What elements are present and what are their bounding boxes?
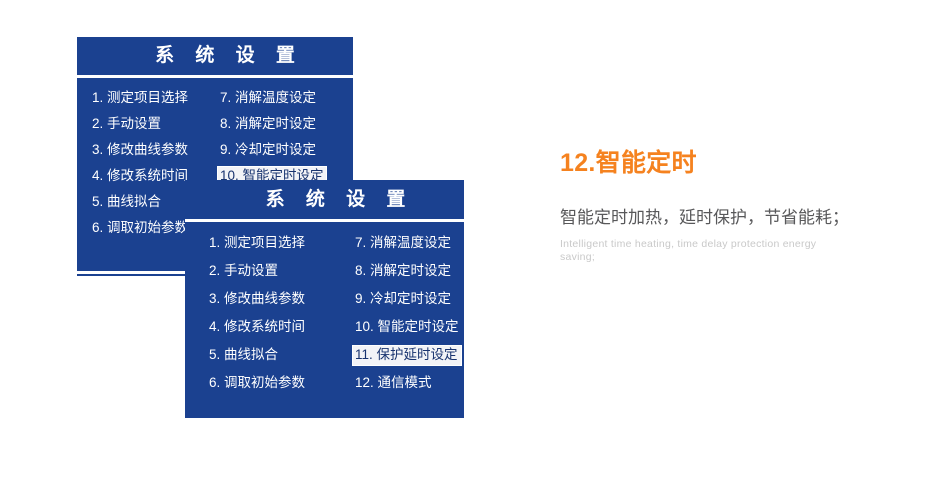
- menu-item[interactable]: 5. 曲线拟合: [207, 346, 281, 365]
- panel-2-right-column: 7. 消解温度设定 8. 消解定时设定 9. 冷却定时设定 10. 智能定时设定…: [353, 234, 463, 402]
- menu-item-number: 9.: [355, 291, 366, 307]
- feature-heading: 12.智能定时: [560, 148, 860, 178]
- menu-item-label: 消解温度设定: [235, 90, 316, 105]
- menu-item[interactable]: 9. 冷却定时设定: [218, 141, 318, 160]
- menu-item-number: 8.: [220, 116, 231, 132]
- menu-item-label: 手动设置: [224, 263, 278, 278]
- menu-item-number: 7.: [220, 90, 231, 106]
- panel-2-left-column: 1. 测定项目选择 2. 手动设置 3. 修改曲线参数 4. 修改系统时间 5.…: [185, 234, 353, 402]
- menu-item[interactable]: 1. 测定项目选择: [90, 89, 190, 108]
- menu-item[interactable]: 8. 消解定时设定: [353, 262, 454, 281]
- menu-item-number: 5.: [92, 194, 103, 210]
- feature-description-block: 12.智能定时 智能定时加热，延时保护，节省能耗； Intelligent ti…: [560, 148, 860, 264]
- menu-item-label: 测定项目选择: [224, 235, 305, 250]
- menu-item[interactable]: 4. 修改系统时间: [207, 318, 308, 337]
- panel-2-menu-body: 1. 测定项目选择 2. 手动设置 3. 修改曲线参数 4. 修改系统时间 5.…: [185, 222, 464, 402]
- menu-item-label: 消解定时设定: [370, 263, 451, 278]
- menu-item[interactable]: 9. 冷却定时设定: [353, 290, 454, 309]
- menu-item-label: 消解温度设定: [370, 235, 451, 250]
- menu-item-label: 修改系统时间: [224, 319, 305, 334]
- menu-item-label: 调取初始参数: [107, 220, 188, 235]
- menu-item-label: 修改曲线参数: [107, 142, 188, 157]
- menu-item[interactable]: 7. 消解温度设定: [353, 234, 454, 253]
- menu-item[interactable]: 3. 修改曲线参数: [90, 141, 190, 160]
- menu-item-label: 通信模式: [378, 375, 432, 390]
- menu-item-label: 调取初始参数: [224, 375, 305, 390]
- menu-item-number: 2.: [92, 116, 103, 132]
- menu-item[interactable]: 8. 消解定时设定: [218, 115, 318, 134]
- menu-item[interactable]: 4. 修改系统时间: [90, 167, 190, 186]
- panel-2-bottom-divider: [185, 422, 464, 425]
- menu-item[interactable]: 3. 修改曲线参数: [207, 290, 308, 309]
- menu-item-label: 冷却定时设定: [235, 142, 316, 157]
- menu-item-label: 消解定时设定: [235, 116, 316, 131]
- feature-description-english: Intelligent time heating, time delay pro…: [560, 238, 850, 264]
- menu-item-label: 修改曲线参数: [224, 291, 305, 306]
- panel-1-title: 系 统 设 置: [77, 37, 353, 75]
- menu-item-label: 曲线拟合: [224, 347, 278, 362]
- menu-item-number: 3.: [209, 291, 220, 307]
- menu-item-label: 冷却定时设定: [370, 291, 451, 306]
- menu-item-number: 11.: [355, 347, 373, 363]
- menu-item[interactable]: 6. 调取初始参数: [207, 374, 308, 393]
- menu-item-label: 修改系统时间: [107, 168, 188, 183]
- menu-item-label: 保护延时设定: [377, 347, 458, 362]
- lcd-menu-panel-2: 系 统 设 置 1. 测定项目选择 2. 手动设置 3. 修改曲线参数 4. 修…: [185, 180, 464, 418]
- menu-item-number: 10.: [355, 319, 374, 335]
- menu-item-number: 5.: [209, 347, 220, 363]
- menu-item-number: 4.: [92, 168, 103, 184]
- menu-item-number: 1.: [92, 90, 103, 106]
- menu-item-selected[interactable]: 11. 保护延时设定: [353, 346, 461, 365]
- menu-item[interactable]: 6. 调取初始参数: [90, 219, 190, 238]
- menu-item-number: 7.: [355, 235, 366, 251]
- menu-item-label: 手动设置: [107, 116, 161, 131]
- menu-item[interactable]: 12. 通信模式: [353, 374, 435, 393]
- feature-description-chinese: 智能定时加热，延时保护，节省能耗；: [560, 204, 850, 231]
- menu-item-number: 3.: [92, 142, 103, 158]
- panel-2-title: 系 统 设 置: [185, 180, 464, 219]
- menu-item[interactable]: 5. 曲线拟合: [90, 193, 163, 212]
- menu-item[interactable]: 2. 手动设置: [207, 262, 281, 281]
- menu-item[interactable]: 2. 手动设置: [90, 115, 163, 134]
- menu-item-number: 1.: [209, 235, 220, 251]
- menu-item-number: 6.: [92, 220, 103, 236]
- menu-item-label: 智能定时设定: [378, 319, 459, 334]
- menu-item-number: 4.: [209, 319, 220, 335]
- menu-item[interactable]: 7. 消解温度设定: [218, 89, 318, 108]
- menu-item-number: 12.: [355, 375, 374, 391]
- menu-item-number: 2.: [209, 263, 220, 279]
- menu-item[interactable]: 10. 智能定时设定: [353, 318, 462, 337]
- menu-item-number: 6.: [209, 375, 220, 391]
- menu-item-label: 测定项目选择: [107, 90, 188, 105]
- menu-item-number: 9.: [220, 142, 231, 158]
- menu-item-number: 8.: [355, 263, 366, 279]
- menu-item[interactable]: 1. 测定项目选择: [207, 234, 308, 253]
- menu-item-label: 曲线拟合: [107, 194, 161, 209]
